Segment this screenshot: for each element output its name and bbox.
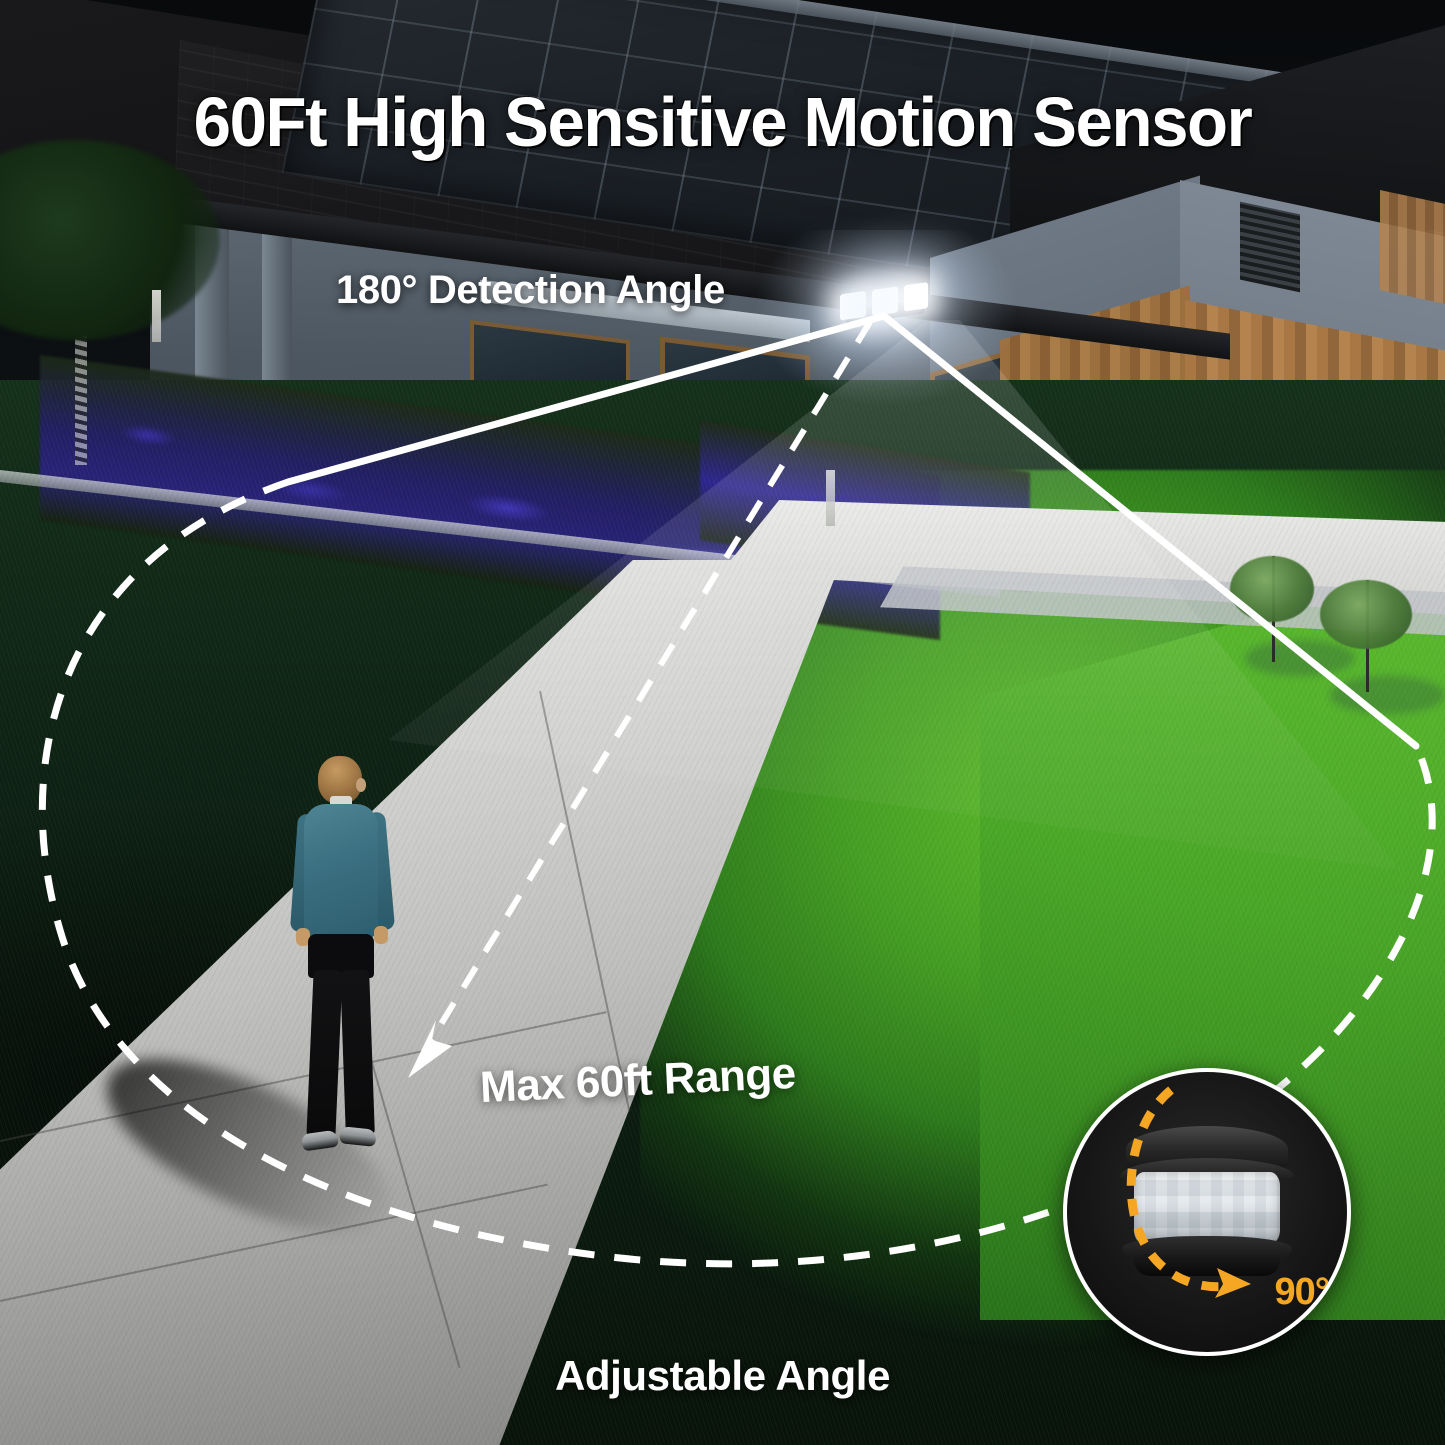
ornamental-tree: [1320, 580, 1412, 692]
led-panel: [840, 291, 866, 321]
walking-person: [284, 756, 404, 1156]
product-marketing-image: 60Ft High Sensitive Motion Sensor 180° D…: [0, 0, 1445, 1445]
ornamental-tree: [1230, 556, 1314, 662]
bollard-light: [152, 290, 161, 342]
person-sweater: [304, 804, 378, 940]
inset-caption: Adjustable Angle: [0, 1352, 1445, 1400]
person-hand-right: [374, 926, 388, 944]
person-ear: [356, 778, 366, 792]
led-panel: [872, 286, 898, 316]
louver-vent: [1240, 202, 1300, 293]
bollard-light: [826, 470, 835, 526]
wood-cladding-panel: [1380, 190, 1445, 309]
page-title: 60Ft High Sensitive Motion Sensor: [29, 82, 1416, 162]
tree-crown: [1320, 580, 1412, 649]
led-panel: [904, 282, 928, 311]
rotation-angle-value: 90°: [1275, 1271, 1329, 1314]
person-leg-right: [340, 970, 375, 1137]
person-leg-left: [306, 969, 342, 1138]
adjustable-angle-inset: 90°: [1063, 1068, 1351, 1356]
detection-angle-label: 180° Detection Angle: [336, 268, 725, 313]
tree-crown: [1230, 556, 1314, 622]
